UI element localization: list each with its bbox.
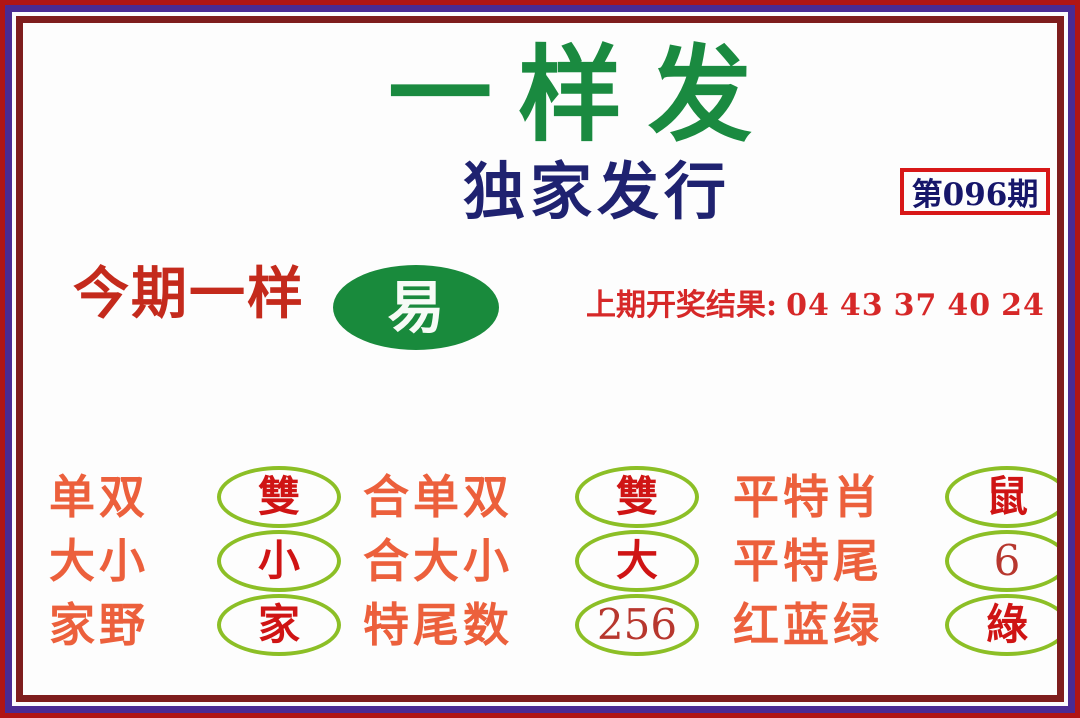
- prediction-label: 平特尾: [713, 538, 945, 584]
- prediction-column: 单双雙大小小家野家: [33, 458, 393, 678]
- prediction-value: 大: [616, 540, 658, 582]
- prediction-value: 雙: [258, 476, 300, 518]
- prediction-value-ellipse: 6: [945, 530, 1057, 592]
- period-badge: 第096期: [900, 168, 1050, 215]
- prediction-label: 单双: [33, 474, 217, 520]
- prediction-row: 合大小大: [353, 528, 713, 594]
- previous-draw-number: 37: [894, 288, 938, 323]
- prediction-value-ellipse: 家: [217, 594, 341, 656]
- prediction-label: 特尾数: [353, 602, 575, 648]
- tagline-highlight-value: 易: [388, 279, 445, 336]
- prediction-value-ellipse: 小: [217, 530, 341, 592]
- previous-draw-label: 上期开奖结果:: [586, 288, 777, 323]
- poster-body: 一样发 独家发行 第096期 今期一样 易 上期开奖结果:04433740241…: [23, 23, 1057, 695]
- prediction-value-ellipse: 綠: [945, 594, 1057, 656]
- tagline: 今期一样: [73, 266, 305, 322]
- prediction-value: 雙: [616, 476, 658, 518]
- previous-draw-result: 上期开奖结果:044337402416+20: [586, 291, 1057, 321]
- lottery-poster: 一样发 独家发行 第096期 今期一样 易 上期开奖结果:04433740241…: [0, 0, 1080, 718]
- previous-draw-number: 04: [786, 288, 830, 323]
- prediction-value-ellipse: 256: [575, 594, 699, 656]
- prediction-value-ellipse: 鼠: [945, 466, 1057, 528]
- prediction-row: 单双雙: [33, 464, 393, 530]
- prediction-grid: 单双雙大小小家野家合单双雙合大小大特尾数256平特肖鼠平特尾6红蓝绿綠: [23, 458, 1057, 678]
- prediction-value-ellipse: 雙: [575, 466, 699, 528]
- previous-draw-number: 43: [840, 288, 884, 323]
- prediction-row: 红蓝绿綠: [713, 592, 1057, 658]
- previous-draw-numbers: 044337402416+20: [786, 288, 1057, 323]
- prediction-column: 平特肖鼠平特尾6红蓝绿綠: [713, 458, 1057, 678]
- prediction-label: 平特肖: [713, 474, 945, 520]
- prediction-row: 家野家: [33, 592, 393, 658]
- prediction-label: 合大小: [353, 538, 575, 584]
- prediction-value: 鼠: [986, 476, 1028, 518]
- prediction-value: 256: [597, 604, 677, 646]
- prediction-row: 大小小: [33, 528, 393, 594]
- subtitle: 独家发行: [463, 161, 731, 223]
- period-badge-label: 第096期: [912, 169, 1039, 214]
- previous-draw-number: 40: [947, 288, 991, 323]
- prediction-value-ellipse: 雙: [217, 466, 341, 528]
- prediction-row: 平特肖鼠: [713, 464, 1057, 530]
- prediction-label: 合单双: [353, 474, 575, 520]
- previous-draw-number: 24: [1001, 288, 1045, 323]
- tagline-highlight-ellipse: 易: [333, 265, 499, 350]
- prediction-value-ellipse: 大: [575, 530, 699, 592]
- prediction-row: 合单双雙: [353, 464, 713, 530]
- prediction-row: 特尾数256: [353, 592, 713, 658]
- previous-draw-number: 16+20: [1055, 288, 1057, 323]
- main-title: 一样发: [273, 43, 893, 147]
- prediction-value: 6: [994, 540, 1021, 582]
- prediction-label: 大小: [33, 538, 217, 584]
- prediction-label: 红蓝绿: [713, 602, 945, 648]
- prediction-value: 家: [258, 604, 300, 646]
- prediction-value: 小: [258, 540, 300, 582]
- prediction-column: 合单双雙合大小大特尾数256: [353, 458, 713, 678]
- prediction-row: 平特尾6: [713, 528, 1057, 594]
- prediction-label: 家野: [33, 602, 217, 648]
- prediction-value: 綠: [986, 604, 1028, 646]
